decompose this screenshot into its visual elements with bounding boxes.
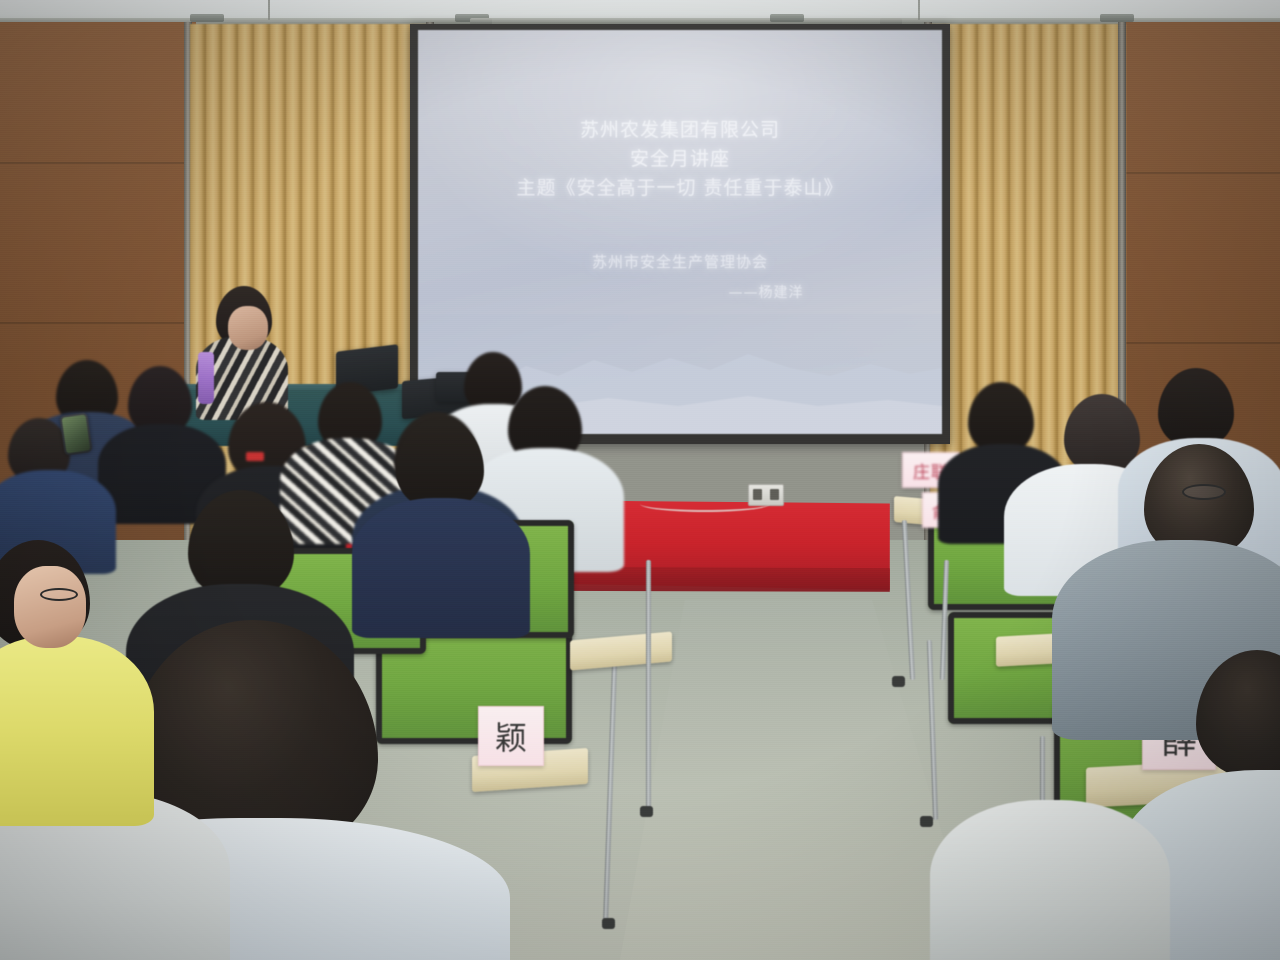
name-card-text: 颖	[495, 713, 527, 759]
slide-title-line-1: 苏州农发集团有限公司	[580, 116, 780, 145]
slide-title-line-2: 安全月讲座	[630, 145, 730, 174]
power-cable	[640, 496, 770, 512]
slide-presenter: ——杨建洋	[729, 282, 804, 302]
name-card: 颖	[478, 706, 544, 766]
ceiling-fixture	[770, 14, 804, 22]
ceiling-fixture	[190, 14, 224, 22]
slide-organization: 苏州市安全生产管理协会	[592, 251, 768, 272]
water-bottle	[198, 352, 214, 404]
ceiling-fixture	[1100, 14, 1134, 22]
shirt-logo	[246, 452, 264, 461]
smartphone[interactable]	[59, 412, 92, 456]
eyeglasses	[40, 588, 78, 601]
eyeglasses	[1182, 484, 1226, 500]
slide-title-line-3: 主题《安全高于一切 责任重于泰山》	[516, 173, 843, 203]
ceiling-wire	[268, 0, 270, 20]
ceiling-wire	[918, 0, 920, 20]
presenter-face	[228, 306, 268, 350]
conference-hall-photo: 苏州农发集团有限公司 安全月讲座 主题《安全高于一切 责任重于泰山》 苏州市安全…	[0, 0, 1280, 960]
